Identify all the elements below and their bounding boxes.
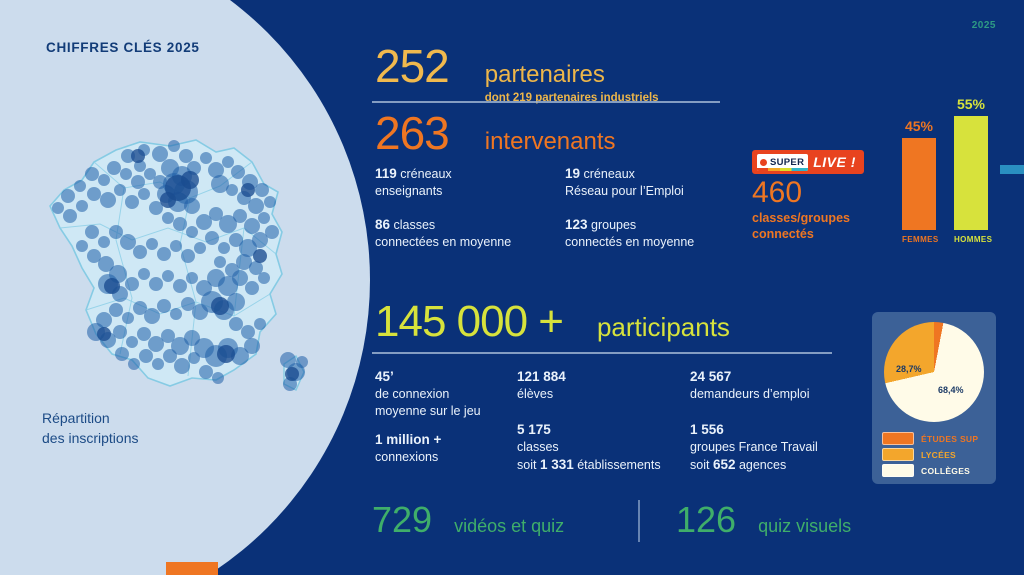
brand-year: 2025 xyxy=(972,20,996,31)
map-caption-line1: Répartition xyxy=(42,410,110,426)
detail-value: 121 884 xyxy=(517,369,566,384)
pie-label-lycees: 28,7% xyxy=(896,364,922,374)
detail-line3: moyenne sur le jeu xyxy=(375,403,481,420)
stat-quiz-number: 126 xyxy=(676,502,736,538)
bar-femmes-rect xyxy=(902,138,936,230)
super-chip-label: SUPER xyxy=(770,157,804,168)
stat-participants-number: 145 000 + xyxy=(375,300,563,344)
detail-line3-value: 652 xyxy=(713,457,736,472)
stat-participants: 145 000 + participants xyxy=(375,300,730,344)
detail-connexions: 1 million + connexions xyxy=(375,431,441,466)
live-label: LIVE ! xyxy=(813,154,856,170)
mini-line2: connectées en moyenne xyxy=(375,234,511,251)
mini-unit: groupes xyxy=(588,218,637,232)
mini-line2: Réseau pour l’Emploi xyxy=(565,183,684,200)
detail-line2: de connexion xyxy=(375,386,481,403)
stat-partenaires-label: partenaires xyxy=(485,63,659,87)
stat-videos-number: 729 xyxy=(372,502,432,538)
mini-line2: enseignants xyxy=(375,183,452,200)
page-title: CHIFFRES CLÉS 2025 xyxy=(46,40,306,55)
stat-intervenants-number: 263 xyxy=(375,110,449,156)
detail-value: 1 million + xyxy=(375,432,441,447)
stat-partenaires-number: 252 xyxy=(375,43,449,89)
divider-top xyxy=(372,101,720,103)
brand-lockup: 2025 xyxy=(966,20,996,31)
mini-value: 19 xyxy=(565,166,580,181)
bar-hommes-rect xyxy=(954,116,988,230)
detail-line2: connexions xyxy=(375,449,441,466)
mini-unit: classes xyxy=(390,218,435,232)
stat-participants-label: participants xyxy=(597,314,730,340)
france-map xyxy=(20,128,320,413)
orange-accent-wedge xyxy=(166,562,218,575)
mini-stat-creneaux-enseignants: 119 créneaux enseignants xyxy=(375,165,452,200)
education-pie-panel: 28,7% 68,4% ÉTUDES SUP LYCÉES COLLÈGES xyxy=(872,312,996,484)
legend-label-etudes-sup: ÉTUDES SUP xyxy=(921,434,978,444)
stat-intervenants-label: intervenants xyxy=(485,130,616,154)
stat-quiz-label: quiz visuels xyxy=(758,516,851,537)
detail-line3: soit 1 331 établissements xyxy=(517,456,661,474)
mini-stat-classes-connectees: 86 classes connectées en moyenne xyxy=(375,216,511,251)
record-dot-icon xyxy=(760,159,767,166)
stat-live-label: classes/groupes connectés xyxy=(752,211,850,242)
detail-line3-post: agences xyxy=(735,458,786,472)
mini-line2: connectés en moyenne xyxy=(565,234,694,251)
stat-intervenants: 263 intervenants xyxy=(375,110,616,156)
legend-swatch-colleges xyxy=(882,464,914,477)
detail-line3-value: 1 331 xyxy=(540,457,574,472)
detail-line3-post: établissements xyxy=(574,458,661,472)
detail-classes: 5 175 classes soit 1 331 établissements xyxy=(517,421,661,474)
detail-value: 1 556 xyxy=(690,422,724,437)
bar-femmes-label: FEMMES xyxy=(902,235,936,244)
bar-hommes-value: 55% xyxy=(954,96,988,112)
legend-item-colleges: COLLÈGES xyxy=(882,464,987,477)
map-caption-line2: des inscriptions xyxy=(42,430,139,446)
detail-value: 24 567 xyxy=(690,369,731,384)
stat-live-label-line1: classes/groupes xyxy=(752,211,850,225)
mini-unit: créneaux xyxy=(397,167,452,181)
bar-hommes-label: HOMMES xyxy=(954,235,988,244)
detail-line3: soit 652 agences xyxy=(690,456,818,474)
legend-item-etudes-sup: ÉTUDES SUP xyxy=(882,432,987,445)
legend-label-colleges: COLLÈGES xyxy=(921,466,970,476)
detail-line3-pre: soit xyxy=(517,458,540,472)
mini-value: 119 xyxy=(375,166,397,181)
detail-demandeurs-emploi: 24 567 demandeurs d’emploi xyxy=(690,368,810,403)
detail-line2: élèves xyxy=(517,386,566,403)
mini-stat-groupes-connectes: 123 groupes connectés en moyenne xyxy=(565,216,694,251)
detail-connexion-moyenne: 45’ de connexion moyenne sur le jeu xyxy=(375,368,481,420)
divider-participants xyxy=(372,352,832,354)
mini-value: 123 xyxy=(565,217,588,232)
stat-partenaires: 252 partenaires dont 219 partenaires ind… xyxy=(375,43,659,104)
detail-value: 5 175 xyxy=(517,422,551,437)
detail-line2: demandeurs d’emploi xyxy=(690,386,810,403)
detail-line3-pre: soit xyxy=(690,458,713,472)
pie-label-colleges: 68,4% xyxy=(938,385,964,395)
stat-live-number: 460 xyxy=(752,178,850,208)
pie-legend: ÉTUDES SUP LYCÉES COLLÈGES xyxy=(882,432,987,480)
detail-line2: groupes France Travail xyxy=(690,439,818,456)
legend-item-lycees: LYCÉES xyxy=(882,448,987,461)
stat-live-connected: 460 classes/groupes connectés xyxy=(752,178,850,242)
super-chip: SUPER xyxy=(757,154,808,171)
legend-label-lycees: LYCÉES xyxy=(921,450,956,460)
bar-femmes-value: 45% xyxy=(902,118,936,134)
stat-quiz-visuels: 126 quiz visuels xyxy=(676,502,851,538)
detail-groupes-france-travail: 1 556 groupes France Travail soit 652 ag… xyxy=(690,421,818,474)
map-caption: Répartition des inscriptions xyxy=(42,408,262,449)
detail-eleves: 121 884 élèves xyxy=(517,368,566,403)
stat-videos-label: vidéos et quiz xyxy=(454,516,564,537)
super-live-badge: SUPER LIVE ! xyxy=(752,150,864,174)
teal-accent-bar xyxy=(1000,165,1024,174)
infographic-canvas: CHIFFRES CLÉS 2025 Répartition des inscr… xyxy=(0,0,1024,575)
divider-bottom xyxy=(638,500,640,542)
stat-videos-quiz: 729 vidéos et quiz xyxy=(372,502,564,538)
legend-swatch-etudes-sup xyxy=(882,432,914,445)
mini-value: 86 xyxy=(375,217,390,232)
detail-value: 45’ xyxy=(375,369,394,384)
detail-line2: classes xyxy=(517,439,661,456)
stat-live-label-line2: connectés xyxy=(752,227,814,241)
mini-stat-creneaux-reseau-emploi: 19 créneaux Réseau pour l’Emploi xyxy=(565,165,684,200)
legend-swatch-lycees xyxy=(882,448,914,461)
rainbow-stripe xyxy=(757,168,808,171)
mini-unit: créneaux xyxy=(580,167,635,181)
gender-bar-chart: 45% FEMMES 55% HOMMES xyxy=(896,92,1006,252)
